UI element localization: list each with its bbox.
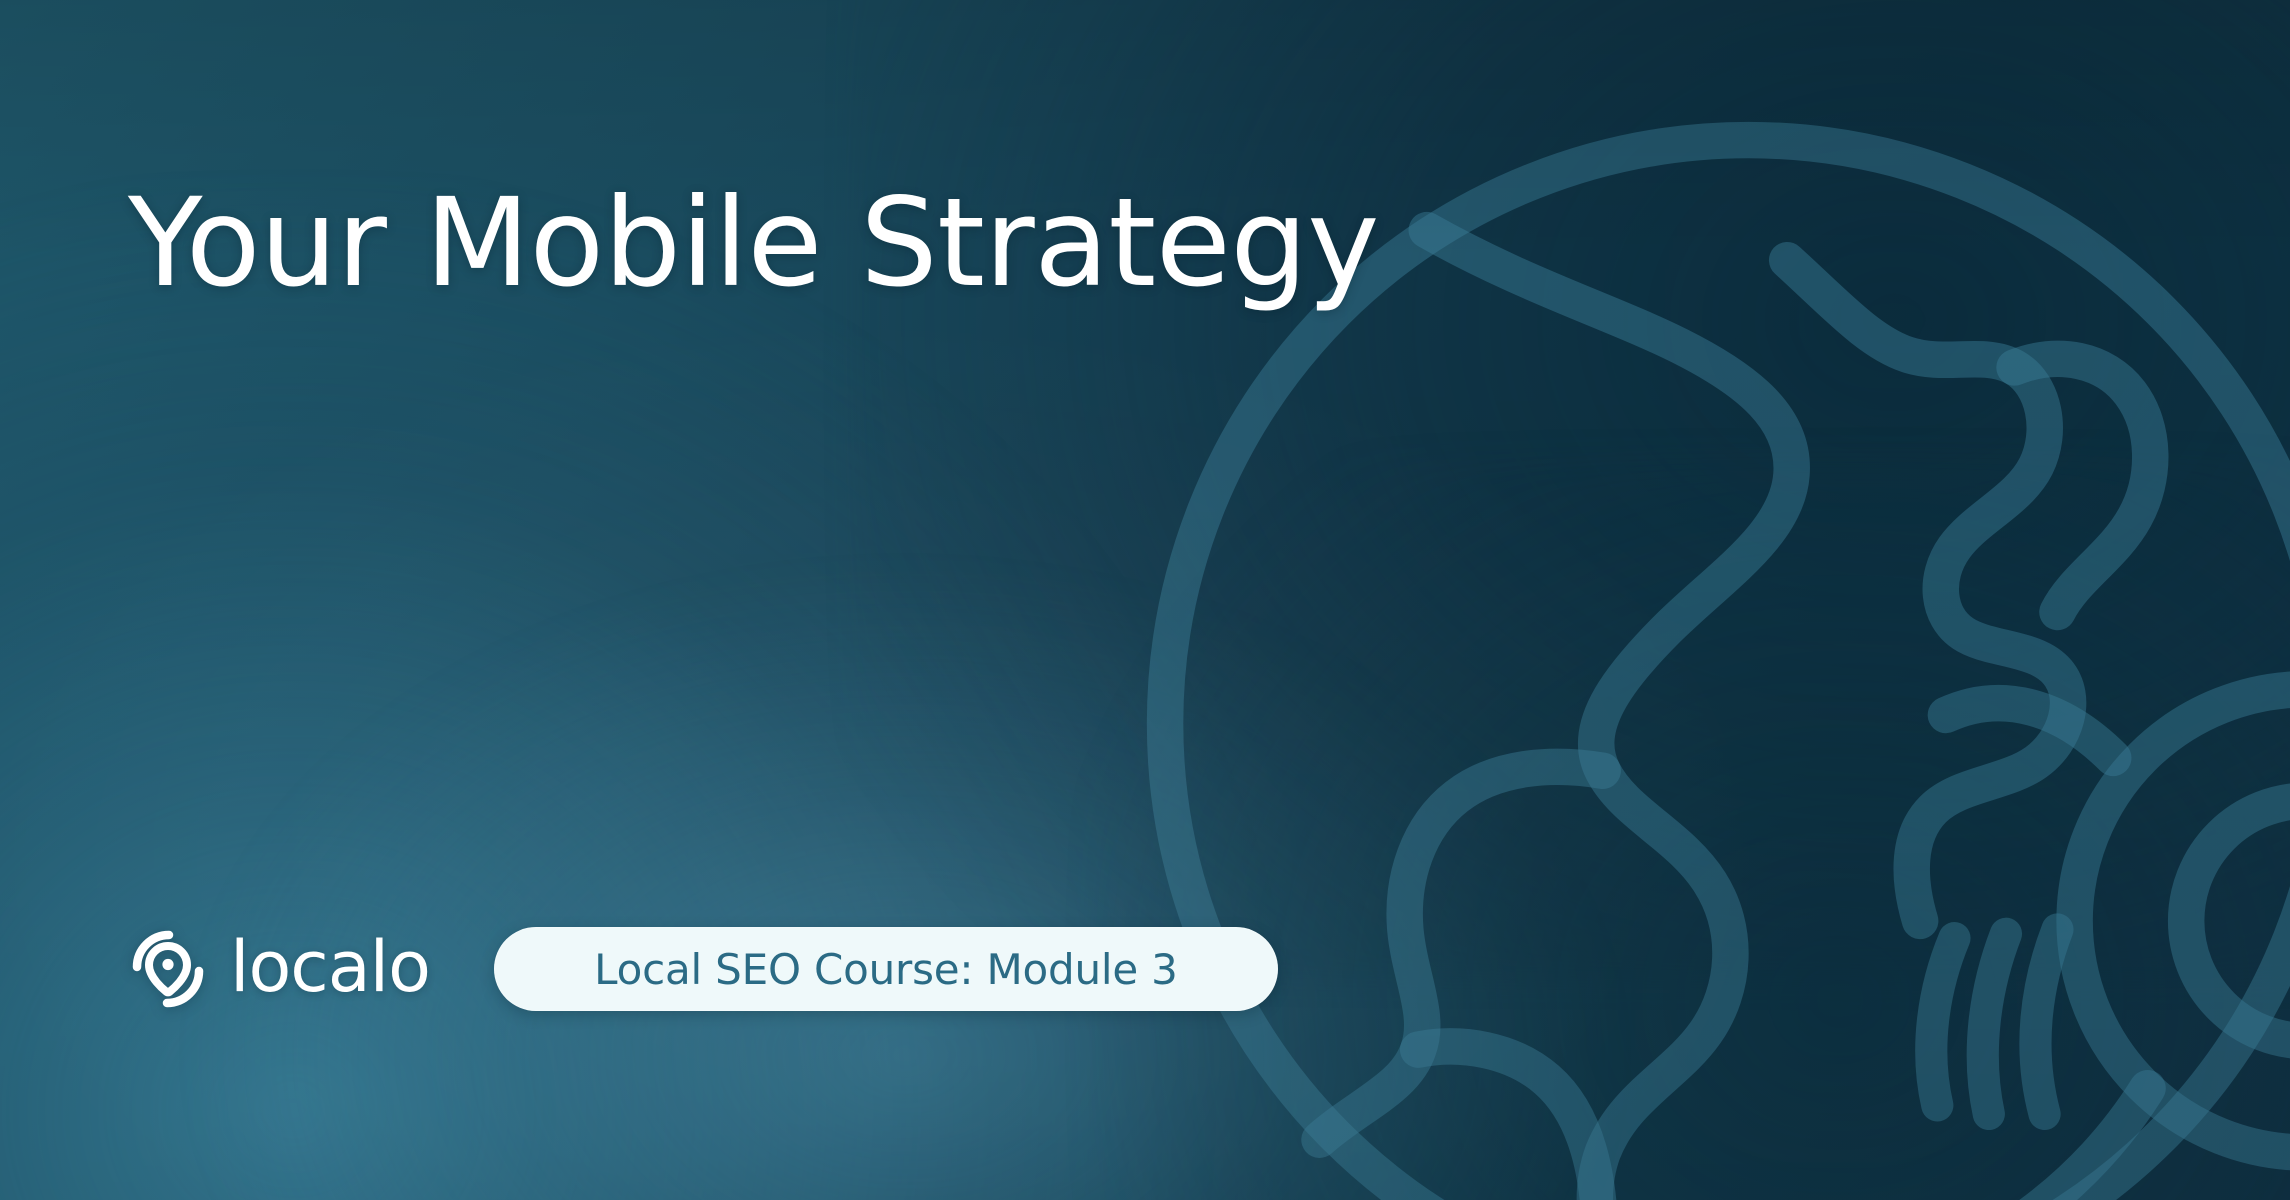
course-module-badge[interactable]: Local SEO Course: Module 3 (494, 927, 1278, 1011)
page-title: Your Mobile Strategy (128, 178, 1379, 310)
location-pin-radar-icon (128, 929, 208, 1009)
brand-logo: localo (128, 924, 430, 1014)
slide-canvas: Your Mobile Strategy localo Local SEO Co… (0, 0, 2290, 1200)
brand-wordmark: localo (230, 932, 430, 1002)
footer-row: localo Local SEO Course: Module 3 (128, 924, 1278, 1014)
